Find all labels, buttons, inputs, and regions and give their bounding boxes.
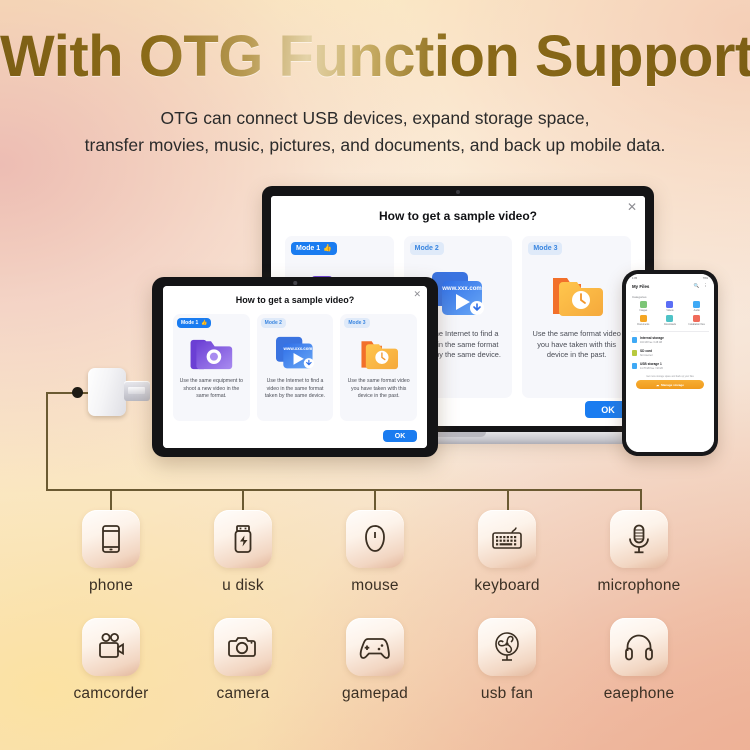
device-label: mouse (315, 577, 435, 595)
wire-horizontal-main (46, 489, 642, 491)
category-label: Videos (666, 309, 673, 312)
category-grid: Images Videos Audio Documents Downloads … (626, 300, 714, 330)
page-title: With OTG Function Support (0, 28, 750, 86)
category-label: Images (639, 309, 647, 312)
mode-badge-label: Mode 1 (181, 321, 198, 326)
more-vertical-icon[interactable]: ⋮ (704, 283, 709, 289)
device-item-usb-fan[interactable]: usb fan (447, 618, 567, 703)
category-item[interactable]: Documents (630, 315, 657, 326)
status-time: 1:05 (632, 277, 637, 280)
storage-detail: Not inserted (640, 355, 652, 357)
app-header: My Files 🔍 ⋮ (626, 281, 714, 293)
mode-badge-label: Mode 3 (348, 321, 365, 326)
laptop-base-notch (430, 432, 486, 437)
device-label: gamepad (315, 685, 435, 703)
category-item[interactable]: Images (630, 301, 657, 312)
device-label: usb fan (447, 685, 567, 703)
device-label: phone (51, 577, 171, 595)
thumbs-up-icon: 👍 (201, 321, 207, 326)
otg-usb-adapter (88, 368, 132, 416)
divider (631, 331, 709, 332)
device-label: microphone (579, 577, 699, 595)
wire-drop-phone (110, 489, 112, 510)
apk-icon (693, 315, 700, 322)
storage-detail: 104 GB free / 128 GB (640, 342, 662, 344)
device-label: eaephone (579, 685, 699, 703)
device-label: camera (183, 685, 303, 703)
mode-badge: Mode 2 (410, 242, 444, 255)
device-item-keyboard[interactable]: keyboard (447, 510, 567, 595)
phone-status-bar: 1:05 76% (626, 274, 714, 281)
dialog-title: How to get a sample video? (173, 295, 417, 305)
phone-screen: 1:05 76% My Files 🔍 ⋮ Categories Images (626, 274, 714, 452)
storage-detail: 14.78 GB free / 32 GB (640, 368, 663, 370)
headphone-icon (610, 618, 668, 676)
mode-badge-label: Mode 3 (533, 245, 557, 252)
mode-caption: Use the same format video you have taken… (530, 329, 623, 361)
mode-badge: Mode 1 👍 (177, 318, 211, 328)
internal-storage-icon (632, 337, 637, 343)
svg-text:www.xxx.com: www.xxx.com (283, 346, 313, 351)
mode-badge: Mode 3 (344, 318, 369, 328)
device-item-camcorder[interactable]: camcorder (51, 618, 171, 703)
tablet-screen: ✕ How to get a sample video? Mode 1 👍 (163, 286, 427, 448)
status-battery: 76% (703, 277, 708, 280)
mode-card[interactable]: Mode 1 👍 (173, 314, 250, 421)
category-label: Documents (637, 323, 649, 326)
camcorder-icon (82, 618, 140, 676)
adapter-body (88, 368, 126, 416)
mode-badge: Mode 3 (528, 242, 562, 255)
app-title: My Files (632, 284, 649, 289)
close-icon[interactable]: ✕ (413, 290, 421, 299)
mode-caption: Use the same format video you have taken… (345, 378, 412, 401)
thumbs-up-icon: 👍 (323, 245, 332, 252)
device-item-phone[interactable]: phone (51, 510, 171, 595)
storage-row[interactable]: Internal storage104 GB free / 128 GB (626, 333, 714, 346)
promo-note: Get more storage space and back up your … (626, 372, 714, 380)
promo-banner: With OTG Function Support OTG can connec… (0, 0, 750, 750)
phone-icon (82, 510, 140, 568)
category-label: Audio (694, 309, 700, 312)
orange-clock-folder-icon (547, 268, 607, 320)
mode-badge-label: Mode 1 (296, 245, 320, 252)
category-item[interactable]: Downloads (657, 315, 684, 326)
tablet-camera-icon (293, 281, 297, 285)
wire-drop-mouse (374, 489, 376, 510)
device-item-earphone[interactable]: eaephone (579, 618, 699, 703)
phone-mockup: 1:05 76% My Files 🔍 ⋮ Categories Images (622, 270, 718, 456)
my-files-app: 1:05 76% My Files 🔍 ⋮ Categories Images (626, 274, 714, 452)
mode-badge-label: Mode 2 (415, 245, 439, 252)
usb-fan-icon (478, 618, 536, 676)
subtitle-line-1: OTG can connect USB devices, expand stor… (0, 105, 750, 132)
mode-card[interactable]: Mode 2 www.xxx.com (257, 314, 334, 421)
category-item[interactable]: Installation files (683, 315, 710, 326)
audio-icon (693, 301, 700, 308)
mouse-icon (346, 510, 404, 568)
documents-icon (640, 315, 647, 322)
close-icon[interactable]: ✕ (627, 201, 637, 213)
ok-button[interactable]: OK (383, 430, 417, 442)
device-label: camcorder (51, 685, 171, 703)
phone-frame: 1:05 76% My Files 🔍 ⋮ Categories Images (622, 270, 718, 456)
adapter-usb-plug (124, 381, 150, 401)
storage-name: USB storage 1 (640, 362, 662, 366)
sd-card-icon (632, 350, 637, 356)
device-item-u-disk[interactable]: u disk (183, 510, 303, 595)
mode-badge: Mode 1 👍 (291, 242, 337, 255)
manage-storage-button[interactable]: ☁ Manage storage (636, 380, 704, 389)
orange-clock-folder-icon (357, 334, 401, 372)
category-item[interactable]: Audio (683, 301, 710, 312)
cloud-icon: ☁ (656, 383, 659, 387)
category-label: Installation files (688, 323, 704, 326)
device-item-camera[interactable]: camera (183, 618, 303, 703)
mode-caption: Use the same equipment to shoot a new vi… (178, 378, 245, 401)
device-item-mouse[interactable]: mouse (315, 510, 435, 595)
device-label: keyboard (447, 577, 567, 595)
purple-camera-folder-icon (189, 334, 233, 372)
device-label: u disk (183, 577, 303, 595)
storage-row[interactable]: SD cardNot inserted (626, 346, 714, 359)
storage-name: Internal storage (640, 336, 664, 340)
keyboard-icon (478, 510, 536, 568)
mode-card[interactable]: Mode 3 (522, 236, 631, 398)
subtitle-line-2: transfer movies, music, pictures, and do… (0, 132, 750, 159)
mode-card[interactable]: Mode 3 (340, 314, 417, 421)
camera-icon (214, 618, 272, 676)
mode-badge-label: Mode 2 (265, 321, 282, 326)
laptop-camera-icon (456, 190, 460, 194)
usb-storage-icon (632, 363, 637, 369)
page-subtitle: OTG can connect USB devices, expand stor… (0, 105, 750, 159)
device-item-microphone[interactable]: microphone (579, 510, 699, 595)
category-label: Downloads (664, 323, 676, 326)
storage-row[interactable]: USB storage 114.78 GB free / 32 GB (626, 359, 714, 372)
category-item[interactable]: Videos (657, 301, 684, 312)
cta-label: Manage storage (661, 383, 684, 387)
videos-icon (666, 301, 673, 308)
tablet-frame: ✕ How to get a sample video? Mode 1 👍 (152, 277, 438, 457)
wire-drop-udisk (242, 489, 244, 510)
microphone-icon (610, 510, 668, 568)
downloads-icon (666, 315, 673, 322)
sample-video-dialog-tablet: ✕ How to get a sample video? Mode 1 👍 (163, 286, 427, 448)
wire-node-dot (72, 387, 83, 398)
device-item-gamepad[interactable]: gamepad (315, 618, 435, 703)
images-icon (640, 301, 647, 308)
blue-play-download-icon: www.xxx.com (273, 334, 317, 372)
storage-name: SD card (640, 349, 652, 353)
tablet-mockup: ✕ How to get a sample video? Mode 1 👍 (152, 277, 438, 457)
mode-card-list: Mode 1 👍 (173, 314, 417, 421)
mode-badge: Mode 2 (261, 318, 286, 328)
svg-text:www.xxx.com: www.xxx.com (441, 286, 481, 292)
wire-vertical-left (46, 392, 48, 490)
gamepad-icon (346, 618, 404, 676)
mode-caption: Use the Internet to find a video in the … (262, 378, 329, 401)
usb-flash-drive-icon (214, 510, 272, 568)
search-icon[interactable]: 🔍 (694, 283, 700, 289)
dialog-title: How to get a sample video? (285, 209, 631, 223)
wire-drop-keyboard (507, 489, 509, 510)
wire-drop-microphone (640, 489, 642, 510)
categories-label: Categories (626, 293, 714, 300)
